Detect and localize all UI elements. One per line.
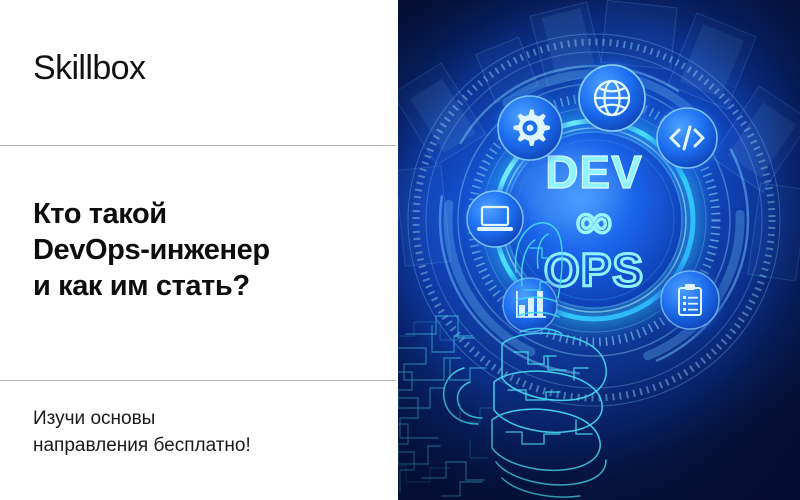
artwork-corner-vignette (398, 0, 800, 500)
divider-bottom (0, 380, 396, 381)
subtitle-text: Изучи основы направления бесплатно! (33, 405, 378, 459)
devops-artwork: DEV ∞ OPS (398, 0, 800, 500)
skillbox-logo[interactable]: Skillbox (33, 50, 145, 87)
left-text-panel: Skillbox Кто такой DevOps-инженер и как … (0, 0, 398, 500)
devops-course-banner: Skillbox Кто такой DevOps-инженер и как … (0, 0, 800, 500)
divider-top (0, 145, 396, 146)
artwork-canvas: DEV ∞ OPS (398, 0, 800, 500)
page-title: Кто такой DevOps-инженер и как им стать? (33, 196, 378, 304)
